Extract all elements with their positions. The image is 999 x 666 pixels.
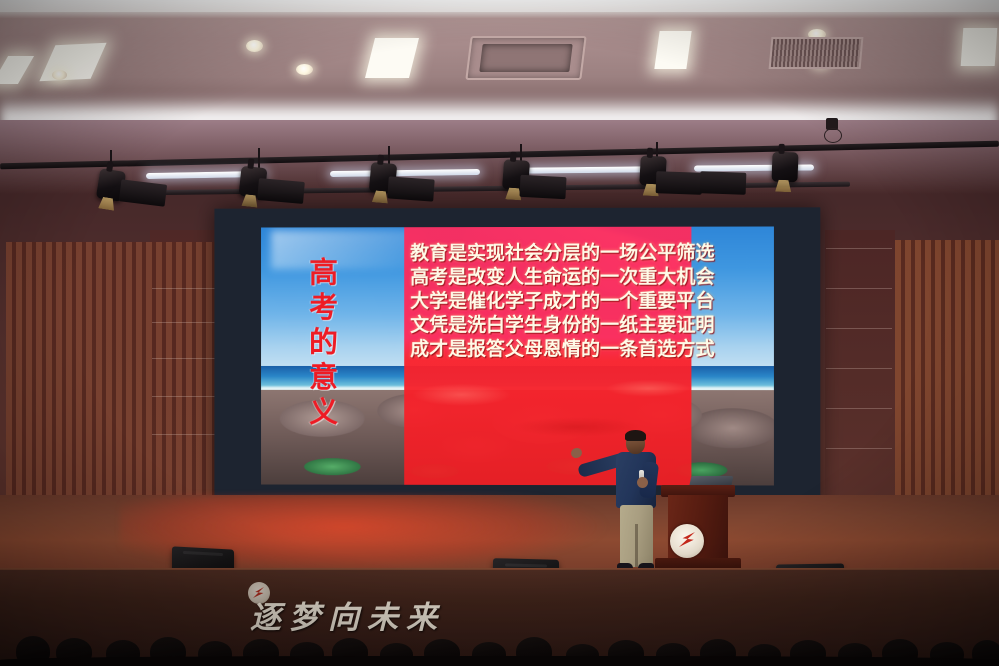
stage-spotlight-housing [257, 178, 305, 204]
wall-panel-seam [826, 288, 892, 289]
wall-panel-seam [826, 408, 892, 409]
audience-shoulders [0, 656, 999, 666]
wall-panel-seam [152, 322, 224, 323]
ceiling [0, 0, 999, 128]
acoustic-slat-panel-right [895, 240, 999, 500]
speaker-mic-hand [637, 477, 648, 488]
stage-spotlight-housing [387, 176, 434, 201]
wall-panel-seam [826, 448, 892, 449]
speaker-leg-separation [635, 524, 638, 567]
ceiling-panel-light [961, 28, 998, 66]
slide-body-line-1: 教育是实现社会分层的一场公平筛选 [362, 241, 762, 266]
wall-mounted-camera-icon [826, 118, 838, 130]
wall-panel-seam [152, 434, 224, 435]
ceiling-panel-light [0, 56, 34, 84]
slide-vertical-title: 高考的意义 [304, 255, 344, 430]
stage-spotlight-housing [700, 171, 747, 195]
ceiling-panel-light [654, 31, 691, 69]
wall-panel-seam [152, 288, 224, 289]
ceiling-downlight [296, 64, 313, 75]
glasses-icon [627, 440, 644, 445]
school-crest-icon [670, 524, 704, 558]
wall-column-right [825, 230, 895, 502]
slide-image: 高考的意义 教育是实现社会分层的一场公平筛选 高考是改变人生命运的一次重大机会 … [261, 226, 774, 485]
ac-return-grille [769, 37, 864, 69]
stage-spotlight-housing [656, 171, 703, 195]
ceiling-downlight [52, 70, 67, 80]
slide-body-line-4: 文凭是洗白学生身份的一纸主要证明 [362, 313, 762, 338]
stage-spotlight-housing [519, 175, 566, 199]
audience-silhouettes [0, 618, 999, 666]
stage-spotlight [771, 152, 798, 183]
wall-panel-seam [826, 368, 892, 369]
ceiling-panel-light [39, 43, 106, 82]
ceiling-panel-light [365, 38, 419, 78]
ceiling-downlight [246, 40, 263, 52]
slide-body-line-5: 成才是报答父母恩情的一条首选方式 [362, 337, 762, 361]
wall-panel-seam [826, 248, 892, 249]
wall-panel-seam [152, 358, 224, 359]
wall-panel-seam [152, 396, 224, 397]
ac-vent [465, 36, 586, 80]
wall-panel-seam [826, 328, 892, 329]
ceiling-edge-shadow [0, 12, 999, 19]
slide-body-line-3: 大学是催化学子成才的一个重要平台 [362, 289, 762, 314]
slide-body-line-2: 高考是改变人生命运的一次重大机会 [362, 265, 762, 290]
auditorium-photo: 高考的意义 教育是实现社会分层的一场公平筛选 高考是改变人生命运的一次重大机会 … [0, 0, 999, 666]
projection-screen: 高考的意义 教育是实现社会分层的一场公平筛选 高考是改变人生命运的一次重大机会 … [214, 207, 820, 508]
